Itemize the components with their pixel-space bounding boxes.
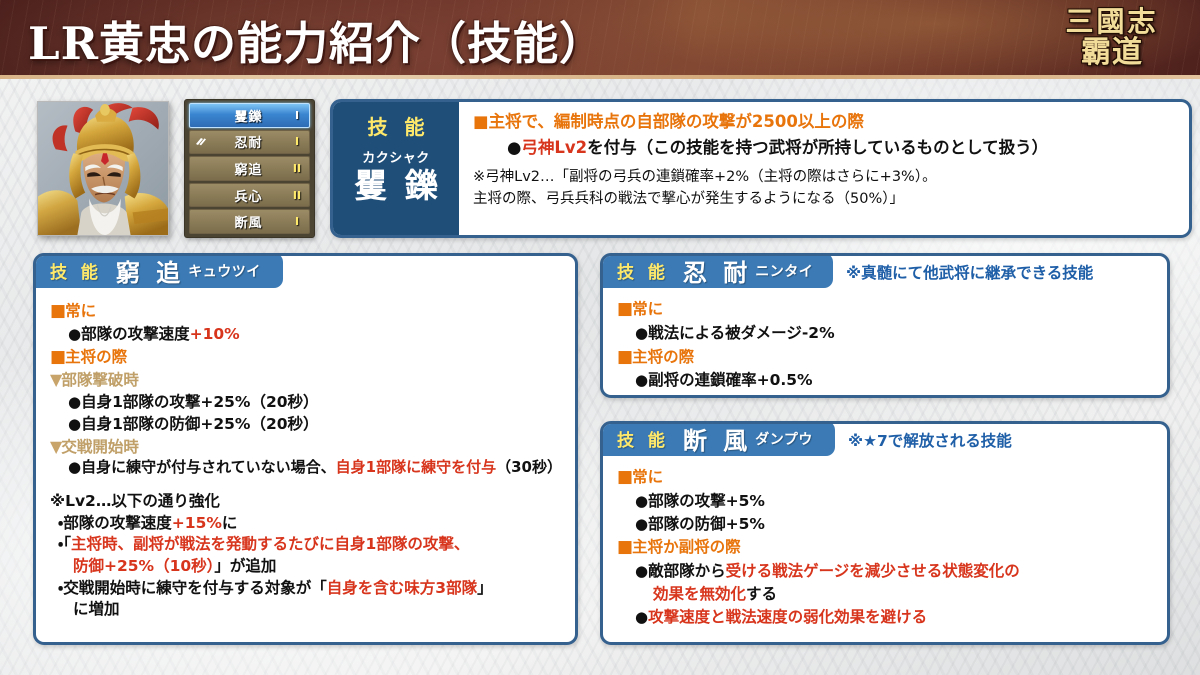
skill-furigana: ニンタイ bbox=[755, 261, 813, 281]
effect-line-text: 受ける戦法ゲージを減少させる状態変化の bbox=[726, 562, 1020, 580]
effect-line: ■主将の際 bbox=[50, 346, 565, 369]
effect-line: ■主将か副将の際 bbox=[617, 536, 1157, 559]
danpuu-tab-header: 技 能 断 風 ダンプウ bbox=[600, 421, 835, 456]
skill-label: 技 能 bbox=[613, 426, 669, 451]
kyuutsui-description: ■常に●部隊の攻撃速度+10%■主将の際▼部隊撃破時●自身1部隊の攻撃+25%（… bbox=[36, 300, 575, 621]
bullet-icon: ● bbox=[507, 138, 521, 157]
nintai-description: ■常に●戦法による被ダメージ-2%■主将の際●副将の連鎖確率+0.5% bbox=[603, 298, 1167, 393]
lv2-effect-text: 主将時、副将が戦法を発動するたびに自身1部隊の攻撃、 bbox=[71, 535, 469, 553]
effect-line: ●自身に練守が付与されていない場合、自身1部隊に練守を付与（30秒） bbox=[68, 458, 565, 478]
bullet-marker-icon: ● bbox=[635, 562, 648, 580]
lv2-effect-line: 防御+25%（10秒）」が追加 bbox=[73, 556, 565, 577]
bullet-marker-icon: ● bbox=[68, 393, 81, 411]
skill-list-item-1[interactable]: 矍鑠I bbox=[189, 103, 310, 128]
skill-list-item-rank: I bbox=[289, 109, 305, 122]
effect-line-text: 攻撃速度と戦法速度の弱化効果を避ける bbox=[648, 608, 927, 626]
logo-text-bottom: 霸道 bbox=[1081, 38, 1143, 68]
skill-list-item-name: 窮追 bbox=[208, 159, 289, 178]
game-logo: 三國志 霸道 bbox=[1042, 4, 1182, 79]
effect-line-text: 部隊撃破時 bbox=[61, 371, 139, 389]
skill-panel-kyuutsui: 技 能 窮 追 キュウツイ ■常に●部隊の攻撃速度+10%■主将の際▼部隊撃破時… bbox=[33, 253, 578, 645]
lv2-effect-text: 自身を含む味方3部隊 bbox=[327, 579, 477, 597]
kakushaku-description: ■主将で、編制時点の自部隊の攻撃が2500以上の際 ●弓神Lv2を付与（この技能… bbox=[459, 102, 1189, 235]
skill-list-item-name: 矍鑠 bbox=[208, 106, 289, 125]
skill-list-item-3[interactable]: 窮追II bbox=[189, 156, 310, 181]
nintai-note: ※真髄にて他武将に継承できる技能 bbox=[846, 261, 1093, 283]
effect-line-text: 自身1部隊の攻撃+25%（20秒） bbox=[81, 393, 318, 411]
skill-name: 矍 鑠 bbox=[351, 167, 441, 205]
effect-line-text: 部隊の攻撃速度 bbox=[81, 325, 190, 343]
skill-list-item-5[interactable]: 断風I bbox=[189, 209, 310, 234]
character-portrait bbox=[37, 101, 169, 236]
effect-line: ▼交戦開始時 bbox=[50, 436, 565, 458]
effect-line: ●部隊の防御+5% bbox=[635, 514, 1157, 535]
lv2-effect-text: 防御+25%（10秒） bbox=[73, 557, 214, 575]
effect-line-text: （30秒） bbox=[496, 458, 562, 476]
lv2-effect-line: ・交戦開始時に練守を付与する対象が「自身を含む味方3部隊」 bbox=[58, 578, 565, 599]
skill-label: 技 能 bbox=[46, 258, 102, 283]
skill-list-panel[interactable]: 矍鑠I忍耐I窮追II兵心II断風I bbox=[184, 99, 315, 238]
kakushaku-condition-line: ■主将で、編制時点の自部隊の攻撃が2500以上の際 bbox=[473, 111, 1179, 133]
skill-list-item-rank: II bbox=[289, 189, 305, 202]
effect-line: ■常に bbox=[617, 466, 1157, 489]
effect-line-text: 敵部隊から bbox=[648, 562, 726, 580]
effect-line-text: 常に bbox=[632, 468, 663, 486]
kakushaku-condition-text: ■主将で、編制時点の自部隊の攻撃が2500以上の際 bbox=[473, 112, 864, 131]
kakushaku-effect-line: ●弓神Lv2を付与（この技能を持つ武将が所持しているものとして扱う） bbox=[507, 137, 1179, 159]
effect-line: ■主将の際 bbox=[617, 346, 1157, 369]
effect-line: ▼部隊撃破時 bbox=[50, 369, 565, 391]
skill-list-item-name: 兵心 bbox=[208, 186, 289, 205]
effect-line-text: +10% bbox=[190, 325, 240, 343]
bullet-marker-icon: ● bbox=[68, 458, 81, 476]
header-banner: LR黄忠の能力紹介（技能） 三國志 霸道 bbox=[0, 0, 1200, 79]
effect-line-text: 常に bbox=[632, 300, 663, 318]
square-marker-icon: ■ bbox=[50, 347, 65, 367]
skill-name: 断 風 bbox=[679, 421, 751, 456]
kakushaku-effect-highlight: 弓神Lv2 bbox=[521, 138, 587, 157]
skill-name: 窮 追 bbox=[112, 253, 184, 288]
lv2-effect-line: に増加 bbox=[73, 599, 565, 620]
lv2-effect-line: ・部隊の攻撃速度+15%に bbox=[58, 513, 565, 534]
logo-text-top: 三國志 bbox=[1065, 8, 1158, 36]
kakushaku-name-block: 技 能 カクシャク 矍 鑠 bbox=[333, 102, 459, 235]
effect-line-text: 主将の際 bbox=[632, 348, 694, 366]
lv2-effect-text: に増加 bbox=[73, 600, 120, 618]
effect-line-text: 自身1部隊の防御+25%（20秒） bbox=[81, 415, 318, 433]
skill-furigana: ダンプウ bbox=[755, 429, 813, 449]
skill-list-item-name: 断風 bbox=[208, 212, 289, 231]
skill-name: 忍 耐 bbox=[679, 253, 751, 288]
skill-label: 技 能 bbox=[613, 258, 669, 283]
skill-panel-danpuu: 技 能 断 風 ダンプウ ※★7で解放される技能 ■常に●部隊の攻撃+5%●部隊… bbox=[600, 421, 1170, 645]
danpuu-description: ■常に●部隊の攻撃+5%●部隊の防御+5%■主将か副将の際●敵部隊から受ける戦法… bbox=[603, 466, 1167, 630]
effect-line-text: 主将か副将の際 bbox=[632, 538, 741, 556]
effect-line: ■常に bbox=[617, 298, 1157, 321]
effect-line-text: 自身1部隊に練守を付与 bbox=[336, 458, 496, 476]
skill-list-item-2[interactable]: 忍耐I bbox=[189, 130, 310, 155]
portrait-illustration bbox=[38, 102, 168, 235]
effect-line: ●敵部隊から受ける戦法ゲージを減少させる状態変化の bbox=[635, 561, 1157, 582]
effect-line-text: 常に bbox=[65, 302, 96, 320]
effect-line-text: 自身に練守が付与されていない場合、 bbox=[81, 458, 336, 476]
effect-line: ●自身1部隊の攻撃+25%（20秒） bbox=[68, 392, 565, 413]
bullet-marker-icon: ● bbox=[635, 515, 648, 533]
kakushaku-note-line-1: ※弓神Lv2…「副将の弓兵の連鎖確率+2%（主将の際はさらに+3%）。 bbox=[473, 168, 1179, 187]
square-marker-icon: ■ bbox=[50, 301, 65, 321]
kyuutsui-tab-header: 技 能 窮 追 キュウツイ bbox=[33, 253, 283, 288]
inherit-scroll-icon bbox=[194, 137, 208, 147]
page-title: LR黄忠の能力紹介（技能） bbox=[28, 7, 605, 72]
effect-line: ●攻撃速度と戦法速度の弱化効果を避ける bbox=[635, 607, 1157, 628]
skill-panel-kakushaku: 技 能 カクシャク 矍 鑠 ■主将で、編制時点の自部隊の攻撃が2500以上の際 … bbox=[330, 99, 1192, 238]
effect-line: 効果を無効化する bbox=[653, 584, 1157, 605]
nintai-tab-header: 技 能 忍 耐 ニンタイ bbox=[600, 253, 833, 288]
effect-line: ■常に bbox=[50, 300, 565, 323]
danpuu-note: ※★7で解放される技能 bbox=[848, 429, 1012, 451]
effect-line-text: する bbox=[746, 585, 777, 603]
triangle-marker-icon: ▼ bbox=[50, 437, 61, 456]
lv2-effect-text: 」が追加 bbox=[214, 557, 276, 575]
bullet-marker-icon: ● bbox=[68, 325, 81, 343]
lv2-effect-text: 「 bbox=[63, 535, 71, 553]
lv2-effect-text: 部隊の攻撃速度 bbox=[63, 514, 172, 532]
skill-list-item-rank: II bbox=[289, 162, 305, 175]
skill-panel-nintai: 技 能 忍 耐 ニンタイ ※真髄にて他武将に継承できる技能 ■常に●戦法による被… bbox=[600, 253, 1170, 398]
effect-line-text: 部隊の攻撃+5% bbox=[648, 492, 765, 510]
lv2-effect-text: +15% bbox=[172, 514, 222, 532]
effect-line-text: 効果を無効化 bbox=[653, 585, 746, 603]
effect-line-text: 交戦開始時 bbox=[61, 438, 139, 456]
triangle-marker-icon: ▼ bbox=[50, 370, 61, 389]
lv2-effect-text: に bbox=[222, 514, 238, 532]
effect-line: ●副将の連鎖確率+0.5% bbox=[635, 370, 1157, 391]
effect-line-text: 主将の際 bbox=[65, 348, 127, 366]
effect-line: ●戦法による被ダメージ-2% bbox=[635, 323, 1157, 344]
lv2-effect-text: 」 bbox=[477, 579, 493, 597]
square-marker-icon: ■ bbox=[617, 347, 632, 367]
bullet-marker-icon: ● bbox=[635, 371, 648, 389]
lv2-effect-line: ・「主将時、副将が戦法を発動するたびに自身1部隊の攻撃、 bbox=[58, 534, 565, 555]
square-marker-icon: ■ bbox=[617, 299, 632, 319]
effect-line-text: 部隊の防御+5% bbox=[648, 515, 765, 533]
effect-line: ●部隊の攻撃速度+10% bbox=[68, 324, 565, 345]
skill-list-item-rank: I bbox=[289, 215, 305, 228]
skill-list-item-rank: I bbox=[289, 135, 305, 148]
skill-furigana: キュウツイ bbox=[188, 261, 261, 281]
kakushaku-note-line-2: 主将の際、弓兵兵科の戦法で撃心が発生するようになる（50%）」 bbox=[473, 190, 1179, 209]
skill-label: 技 能 bbox=[363, 111, 430, 140]
effect-line-text: 副将の連鎖確率+0.5% bbox=[648, 371, 812, 389]
square-marker-icon: ■ bbox=[617, 467, 632, 487]
bullet-marker-icon: ● bbox=[635, 324, 648, 342]
square-marker-icon: ■ bbox=[617, 537, 632, 557]
effect-line: ●自身1部隊の防御+25%（20秒） bbox=[68, 414, 565, 435]
effect-line-text: 戦法による被ダメージ-2% bbox=[648, 324, 835, 342]
lv2-heading: ※Lv2…以下の通り強化 bbox=[50, 491, 565, 512]
lv2-effect-text: 交戦開始時に練守を付与する対象が「 bbox=[63, 579, 327, 597]
kakushaku-effect-rest: を付与（この技能を持つ武将が所持しているものとして扱う） bbox=[587, 138, 1048, 157]
bullet-marker-icon: ● bbox=[68, 415, 81, 433]
skill-list-item-4[interactable]: 兵心II bbox=[189, 183, 310, 208]
bullet-marker-icon: ● bbox=[635, 608, 648, 626]
effect-line: ●部隊の攻撃+5% bbox=[635, 491, 1157, 512]
skill-list-item-name: 忍耐 bbox=[208, 132, 289, 151]
skill-furigana: カクシャク bbox=[362, 147, 430, 166]
bullet-marker-icon: ● bbox=[635, 492, 648, 510]
